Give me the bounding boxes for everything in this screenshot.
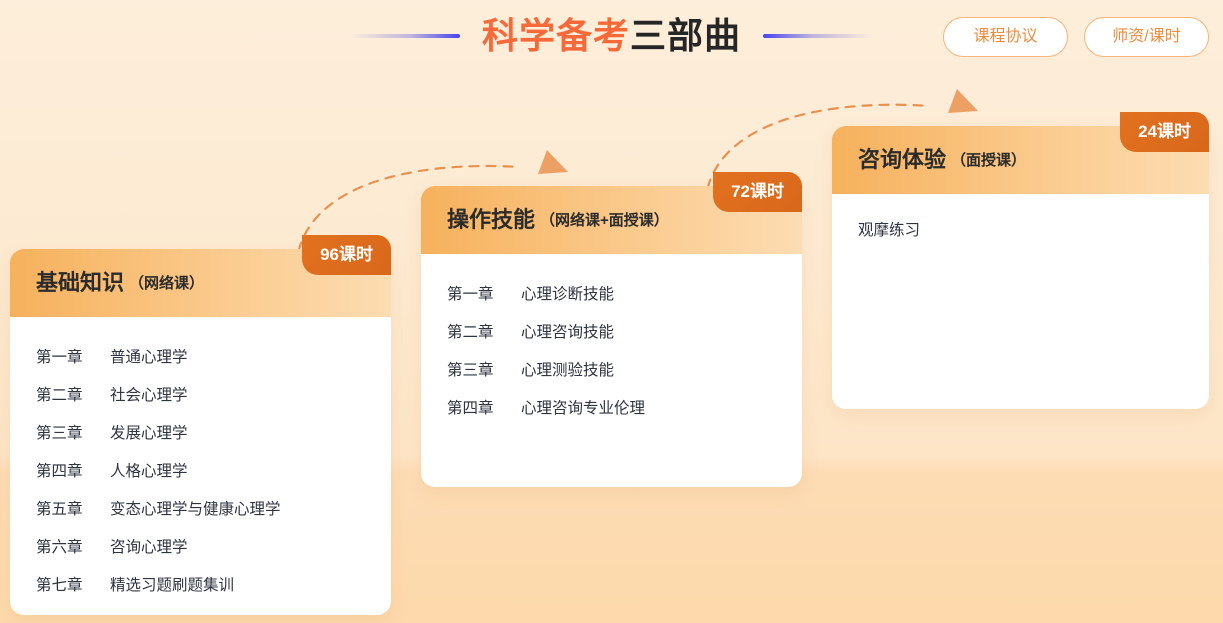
card-subtitle: （网络课） [129, 276, 204, 291]
title-decoration-line-right [763, 34, 873, 38]
card-header: 基础知识 （网络课） 96课时 [10, 249, 391, 317]
chapter-number: 第七章 [36, 567, 98, 605]
card-header: 咨询体验 （面授课） 24课时 [832, 126, 1209, 194]
chapter-number: 第四章 [36, 453, 98, 491]
card-chapter-list: 第一章 普通心理学 第二章 社会心理学 第三章 发展心理学 第四章 人格心理学 … [10, 317, 391, 615]
page-title-dark: 三部曲 [630, 15, 741, 56]
flow-arrow-2-head [948, 89, 978, 113]
course-card-consulting-experience[interactable]: 咨询体验 （面授课） 24课时 观摩练习 [832, 126, 1209, 409]
chapter-number: 第二章 [447, 314, 509, 352]
chapter-number: 第三章 [36, 415, 98, 453]
title-decoration-line-left [350, 34, 460, 38]
flow-arrow-1-head [538, 150, 568, 174]
page-title-accent: 科学备考 [482, 15, 630, 56]
chapter-number: 第四章 [447, 390, 509, 428]
list-item: 第七章 精选习题刷题集训 [10, 567, 391, 605]
chapter-name: 精选习题刷题集训 [110, 567, 234, 605]
page-title-text: 科学备考三部曲 [482, 18, 741, 54]
header-action-buttons: 课程协议 师资/课时 [943, 17, 1209, 57]
course-roadmap-page: 科学备考三部曲 课程协议 师资/课时 基础知识 （网络课） 96课时 第一章 普… [0, 0, 1223, 623]
list-item: 第三章 发展心理学 [10, 415, 391, 453]
list-item: 第四章 人格心理学 [10, 453, 391, 491]
list-item: 第四章 心理咨询专业伦理 [421, 390, 802, 428]
chapter-name: 社会心理学 [110, 377, 188, 415]
chapter-name: 咨询心理学 [110, 529, 188, 567]
faculty-hours-button[interactable]: 师资/课时 [1084, 17, 1209, 57]
chapter-name: 普通心理学 [110, 339, 188, 377]
chapter-number: 第一章 [36, 339, 98, 377]
list-item: 观摩练习 [832, 216, 1209, 254]
card-hours-badge: 24课时 [1120, 112, 1209, 152]
chapter-name: 心理测验技能 [521, 352, 614, 390]
card-subtitle: （面授课） [951, 153, 1026, 168]
list-item: 第一章 心理诊断技能 [421, 276, 802, 314]
list-item: 第三章 心理测验技能 [421, 352, 802, 390]
list-item: 第一章 普通心理学 [10, 339, 391, 377]
card-hours-badge: 96课时 [302, 235, 391, 275]
list-item: 第六章 咨询心理学 [10, 529, 391, 567]
card-title: 操作技能 [447, 209, 535, 231]
card-chapter-list: 观摩练习 [832, 194, 1209, 409]
chapter-name: 心理诊断技能 [521, 276, 614, 314]
chapter-name: 发展心理学 [110, 415, 188, 453]
course-card-operation-skills[interactable]: 操作技能 （网络课+面授课） 72课时 第一章 心理诊断技能 第二章 心理咨询技… [421, 186, 802, 487]
chapter-name: 人格心理学 [110, 453, 188, 491]
chapter-number: 第五章 [36, 491, 98, 529]
course-agreement-button[interactable]: 课程协议 [943, 17, 1068, 57]
card-header: 操作技能 （网络课+面授课） 72课时 [421, 186, 802, 254]
chapter-number: 第三章 [447, 352, 509, 390]
list-item: 第二章 心理咨询技能 [421, 314, 802, 352]
course-card-basic-knowledge[interactable]: 基础知识 （网络课） 96课时 第一章 普通心理学 第二章 社会心理学 第三章 … [10, 249, 391, 615]
card-hours-badge: 72课时 [713, 172, 802, 212]
chapter-name: 心理咨询技能 [521, 314, 614, 352]
chapter-number: 第二章 [36, 377, 98, 415]
chapter-number: 第六章 [36, 529, 98, 567]
card-chapter-list: 第一章 心理诊断技能 第二章 心理咨询技能 第三章 心理测验技能 第四章 心理咨… [421, 254, 802, 487]
list-item: 第五章 变态心理学与健康心理学 [10, 491, 391, 529]
chapter-number: 第一章 [447, 276, 509, 314]
card-title: 基础知识 [36, 272, 124, 294]
page-header: 科学备考三部曲 课程协议 师资/课时 [0, 0, 1223, 74]
card-title: 咨询体验 [858, 149, 946, 171]
chapter-name: 心理咨询专业伦理 [521, 390, 645, 428]
chapter-name: 变态心理学与健康心理学 [110, 491, 281, 529]
card-subtitle: （网络课+面授课） [540, 213, 669, 228]
list-item: 第二章 社会心理学 [10, 377, 391, 415]
